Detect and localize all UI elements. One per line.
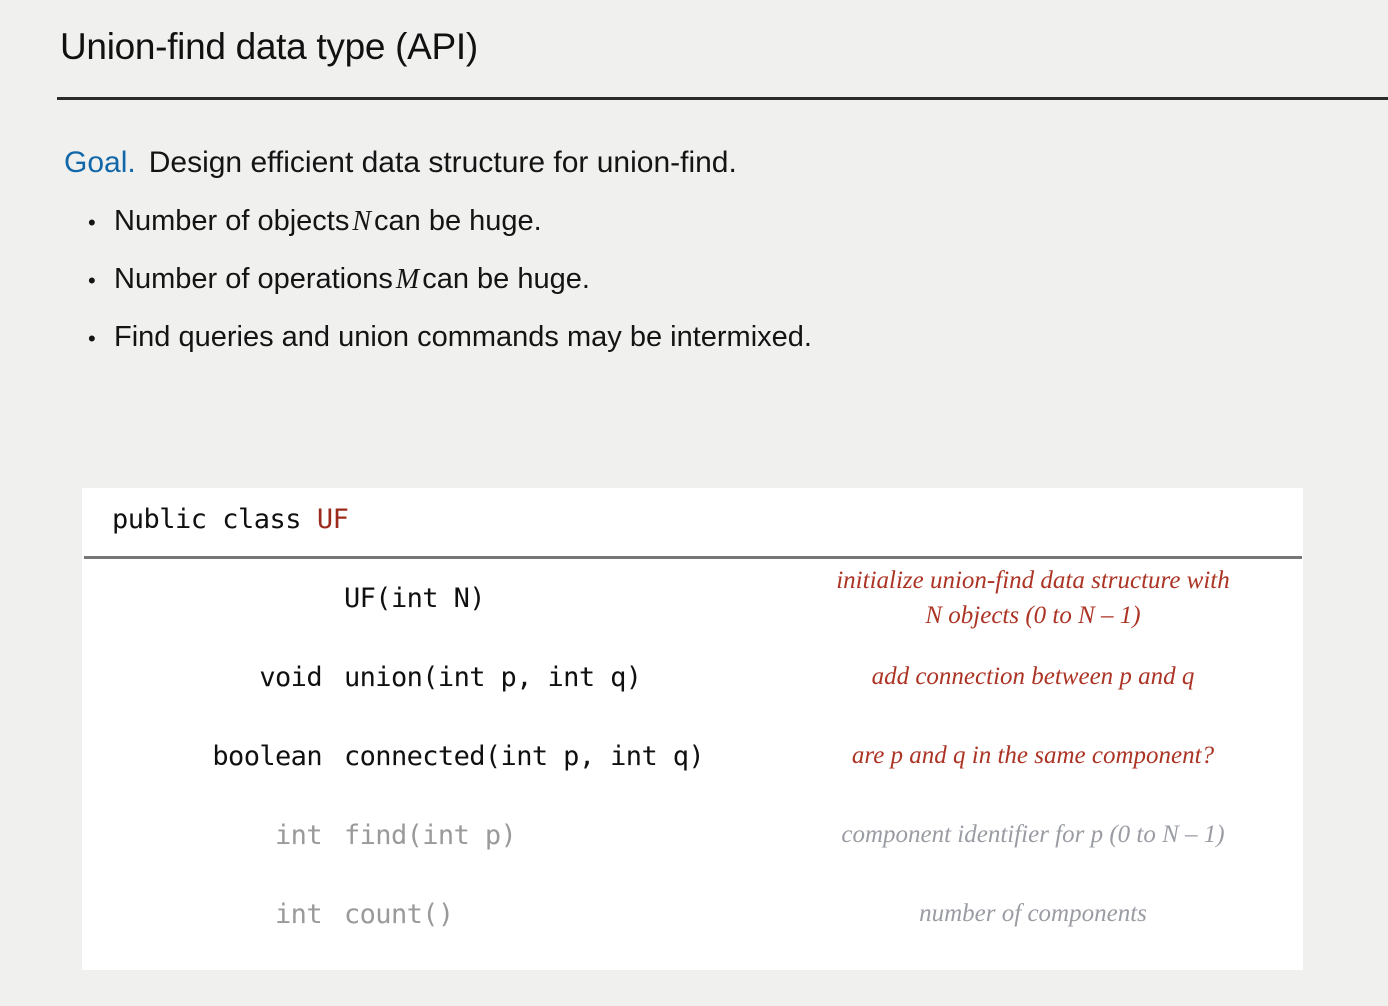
api-description-cell: number of components [782, 897, 1302, 932]
list-item: • Number of objects N can be huge. [88, 205, 812, 263]
bullet-text-before: Number of objects [114, 205, 349, 238]
api-description-line: add connection between p and q [782, 660, 1284, 695]
api-description-cell: add connection between p and q [782, 660, 1302, 695]
list-item: • Find queries and union commands may be… [88, 321, 812, 379]
api-return-type: boolean [82, 741, 344, 772]
table-row: void union(int p, int q) add connection … [82, 638, 1303, 717]
bullet-dot-icon: • [88, 270, 114, 292]
bullet-text-after: can be huge. [422, 263, 590, 296]
api-signature-cell: UF(int N) [82, 583, 782, 614]
title-divider [57, 97, 1388, 100]
goal-bullet-list: • Number of objects N can be huge. • Num… [88, 205, 812, 379]
bullet-text-before: Number of operations [114, 263, 393, 296]
api-method-rows: UF(int N) initialize union-find data str… [82, 559, 1303, 954]
api-method-signature: UF(int N) [344, 583, 485, 614]
api-keyword: public class [112, 504, 301, 535]
api-class-declaration: public class UF [112, 504, 348, 535]
table-row: UF(int N) initialize union-find data str… [82, 559, 1303, 638]
page-title: Union-find data type (API) [60, 26, 478, 68]
bullet-dot-icon: • [88, 212, 114, 234]
api-signature-cell: boolean connected(int p, int q) [82, 741, 782, 772]
api-description-cell: initialize union-find data structure wit… [782, 564, 1302, 633]
api-description-line: initialize union-find data structure wit… [782, 564, 1284, 599]
api-description-line: are p and q in the same component? [782, 739, 1284, 774]
table-row: int count() number of components [82, 875, 1303, 954]
bullet-text-after: can be huge. [374, 205, 542, 238]
api-return-type: int [82, 899, 344, 930]
api-signature-cell: void union(int p, int q) [82, 662, 782, 693]
api-return-type: void [82, 662, 344, 693]
api-class-name: UF [317, 504, 349, 535]
api-return-type: int [82, 820, 344, 851]
api-signature-cell: int find(int p) [82, 820, 782, 851]
table-row: boolean connected(int p, int q) are p an… [82, 717, 1303, 796]
api-method-signature: count() [344, 899, 454, 930]
api-description-line: N objects (0 to N – 1) [782, 599, 1284, 634]
bullet-math-variable: M [393, 264, 422, 296]
api-table-panel: public class UF UF(int N) initialize uni… [82, 488, 1303, 970]
bullet-dot-icon: • [88, 328, 114, 350]
api-method-signature: find(int p) [344, 820, 516, 851]
goal-label: Goal. [64, 146, 136, 179]
goal-text: Design efficient data structure for unio… [149, 146, 737, 179]
api-description-line: number of components [782, 897, 1284, 932]
bullet-math-variable: N [349, 206, 374, 238]
bullet-text-before: Find queries and union commands may be i… [114, 321, 812, 354]
api-description-line: component identifier for p (0 to N – 1) [782, 818, 1284, 853]
api-signature-cell: int count() [82, 899, 782, 930]
api-description-cell: component identifier for p (0 to N – 1) [782, 818, 1302, 853]
table-row: int find(int p) component identifier for… [82, 796, 1303, 875]
api-method-signature: connected(int p, int q) [344, 741, 704, 772]
api-description-cell: are p and q in the same component? [782, 739, 1302, 774]
goal-statement: Goal.Design efficient data structure for… [64, 146, 737, 180]
api-method-signature: union(int p, int q) [344, 662, 641, 693]
list-item: • Number of operations M can be huge. [88, 263, 812, 321]
